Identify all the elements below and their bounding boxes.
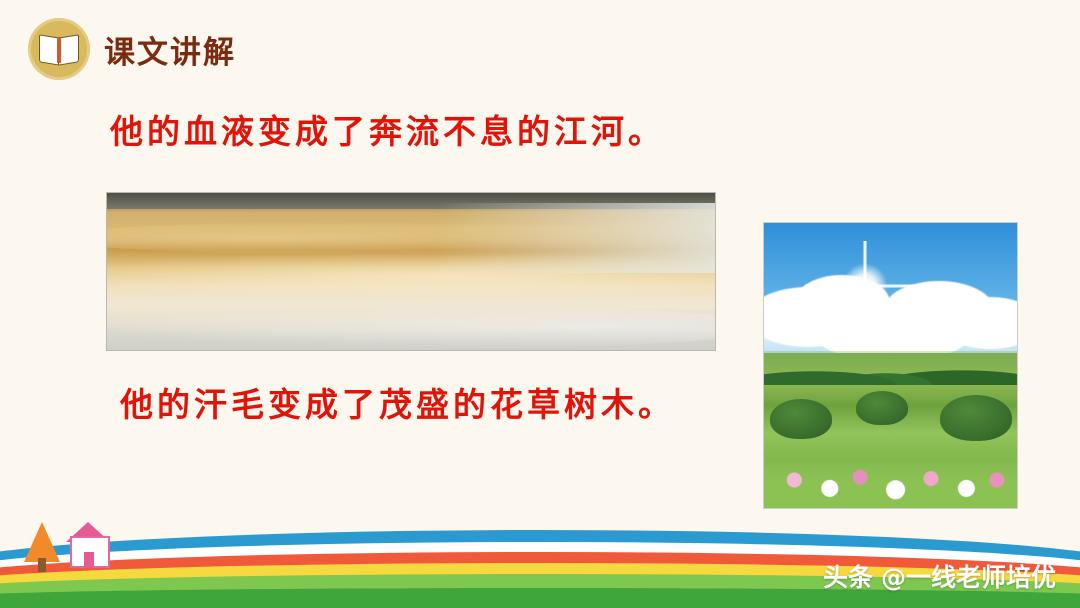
watermark-account: @一线老师培优 xyxy=(881,558,1056,594)
house-door-icon xyxy=(84,552,94,568)
slide-canvas: 课文讲解 他的血液变成了奔流不息的江河。 他的汗毛变成了茂盛的花草树木。 xyxy=(0,0,1080,608)
tree-icon xyxy=(24,522,60,562)
book-icon xyxy=(28,18,90,80)
slide-header: 课文讲解 xyxy=(28,18,236,80)
sun-icon xyxy=(842,263,888,309)
sentence-line-2: 他的汗毛变成了茂盛的花草树木。 xyxy=(120,378,675,426)
sentence-line-1: 他的血液变成了奔流不息的江河。 xyxy=(110,105,665,153)
watermark-logo: 头条 xyxy=(823,558,873,594)
watermark: 头条 @一线老师培优 xyxy=(823,558,1056,594)
page-title: 课文讲解 xyxy=(104,27,236,72)
grassland-flowers-photo xyxy=(763,222,1018,509)
tree-trunk-icon xyxy=(38,558,46,572)
yellow-river-rapids-photo xyxy=(106,192,716,351)
